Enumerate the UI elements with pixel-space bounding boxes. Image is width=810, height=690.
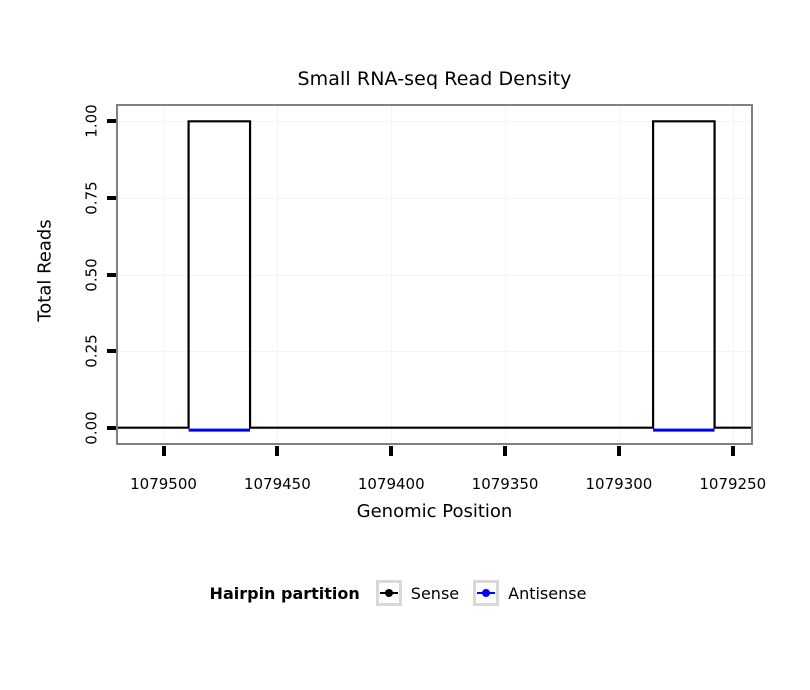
y-tick-label: 1.00 (64, 99, 108, 143)
legend-key-antisense (473, 580, 499, 606)
legend-point-glyph (385, 589, 393, 597)
x-tick-mark (162, 446, 166, 456)
x-tick-label: 1079250 (699, 475, 766, 493)
legend-title: Hairpin partition (210, 584, 360, 603)
chart-figure: Small RNA-seq Read Density Total Reads 0… (0, 0, 810, 690)
legend-label: Antisense (508, 584, 586, 603)
x-tick-mark (731, 446, 735, 456)
x-tick-mark (275, 446, 279, 456)
plot-area (118, 106, 751, 443)
y-axis-title: Total Reads (34, 190, 56, 350)
legend-key-sense (376, 580, 402, 606)
x-axis-title: Genomic Position (116, 501, 753, 522)
x-tick-mark (503, 446, 507, 456)
legend-point-glyph (482, 589, 490, 597)
x-tick-label: 1079400 (358, 475, 425, 493)
legend: Hairpin partition SenseAntisense (0, 580, 810, 606)
series-layer (118, 106, 751, 443)
y-axis-title-text: Total Reads (35, 219, 56, 321)
y-tick-label: 0.00 (64, 406, 108, 450)
x-tick-mark (617, 446, 621, 456)
series-line-sense (118, 121, 751, 427)
y-tick-mark (107, 349, 116, 353)
legend-item-sense[interactable]: Sense (376, 580, 459, 606)
y-tick-label: 0.50 (64, 253, 108, 297)
legend-label: Sense (411, 584, 459, 603)
y-tick-label: 0.25 (64, 329, 108, 373)
y-tick-mark (107, 196, 116, 200)
legend-items: SenseAntisense (376, 580, 601, 606)
legend-item-antisense[interactable]: Antisense (473, 580, 586, 606)
chart-title: Small RNA-seq Read Density (116, 68, 753, 90)
y-tick-label: 0.75 (64, 176, 108, 220)
y-tick-mark (107, 273, 116, 277)
x-tick-label: 1079350 (472, 475, 539, 493)
x-tick-mark (389, 446, 393, 456)
y-tick-mark (107, 119, 116, 123)
x-tick-label: 1079300 (586, 475, 653, 493)
x-tick-label: 1079450 (244, 475, 311, 493)
x-tick-label: 1079500 (130, 475, 197, 493)
plot-panel (116, 104, 753, 445)
y-tick-mark (107, 426, 116, 430)
